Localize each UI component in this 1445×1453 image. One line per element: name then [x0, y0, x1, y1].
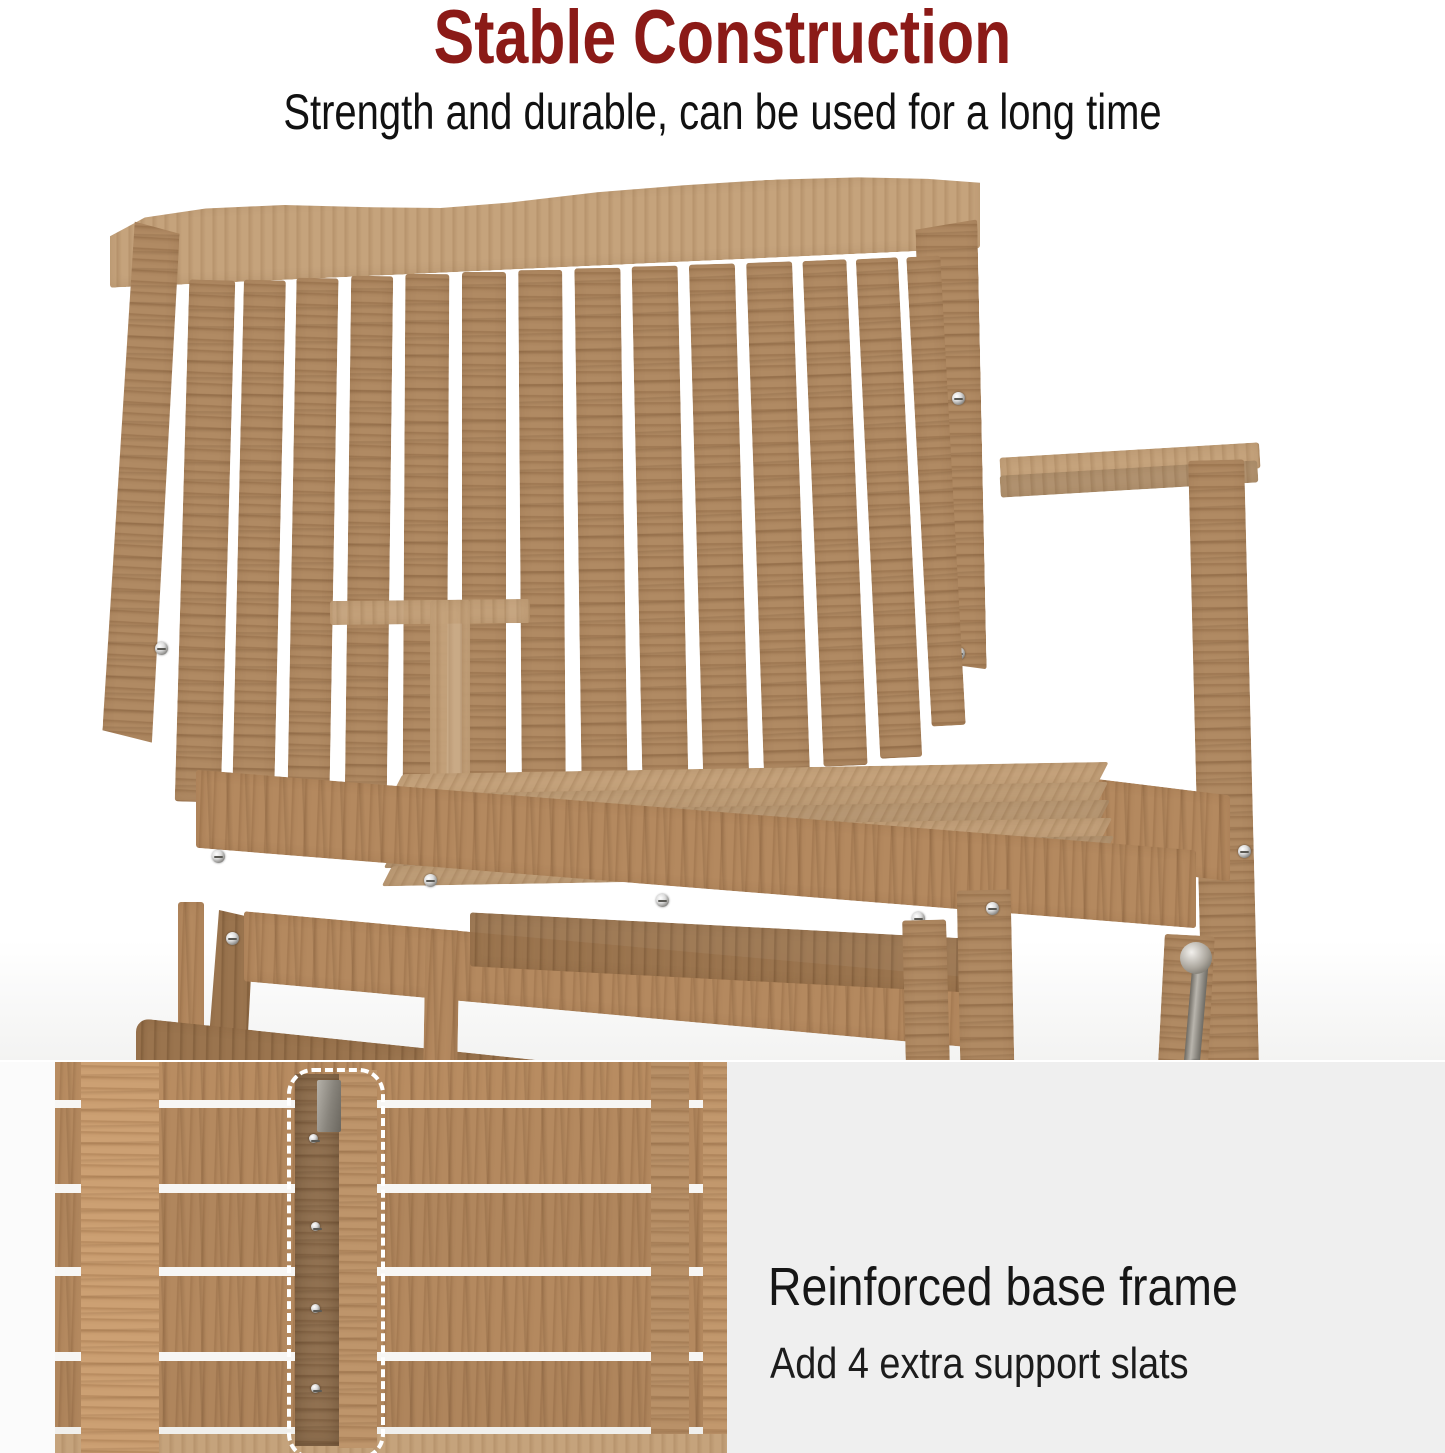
back-slat [518, 270, 566, 786]
product-feature-page: Stable Construction Strength and durable… [0, 0, 1445, 1453]
screw-apron-1 [212, 850, 225, 863]
callout-text-block: Reinforced base frame Add 4 extra suppor… [768, 1062, 1428, 1453]
back-slat [232, 280, 286, 801]
callout-subtitle: Add 4 extra support slats [770, 1340, 1189, 1388]
screw-armrest-front-post-upper [1238, 845, 1251, 858]
back-slat [632, 266, 689, 781]
back-slat [746, 261, 810, 772]
glider-pivot-bolt [1180, 942, 1212, 974]
back-slat [689, 263, 749, 776]
detail-frame-post-right [651, 1062, 689, 1434]
callout-title: Reinforced base frame [768, 1258, 1238, 1316]
back-slat [175, 279, 236, 802]
back-post-left [102, 221, 180, 743]
bottom-callout-band: Reinforced base frame Add 4 extra suppor… [0, 1062, 1445, 1453]
screw-leg-right-top [986, 902, 999, 915]
detail-frame-post-left-overlay [81, 1062, 159, 1453]
leg-right-outer [957, 889, 1018, 1060]
screw-apron-3 [656, 894, 669, 907]
back-slat [802, 259, 867, 766]
back-slat [287, 278, 338, 797]
page-subtitle: Strength and durable, can be used for a … [145, 84, 1301, 140]
back-slat [574, 268, 627, 785]
detail-frame-post-far-right [703, 1062, 727, 1434]
screw-back-post-left [155, 642, 168, 655]
screw-apron-2 [424, 874, 437, 887]
left-gutter [0, 1062, 55, 1453]
highlight-dashed-box [287, 1068, 385, 1453]
page-title: Stable Construction [145, 0, 1301, 78]
base-cross-brace [422, 930, 459, 1060]
leg-right-inner [902, 919, 954, 1060]
hero-product-photo [0, 160, 1445, 1060]
far-side-post [430, 600, 470, 790]
header-band: Stable Construction Strength and durable… [0, 0, 1445, 160]
detail-closeup-photo [55, 1062, 727, 1453]
screw-leg-rear-left [226, 932, 239, 945]
screw-back-post-right-top [952, 392, 965, 405]
back-slat [345, 276, 393, 794]
